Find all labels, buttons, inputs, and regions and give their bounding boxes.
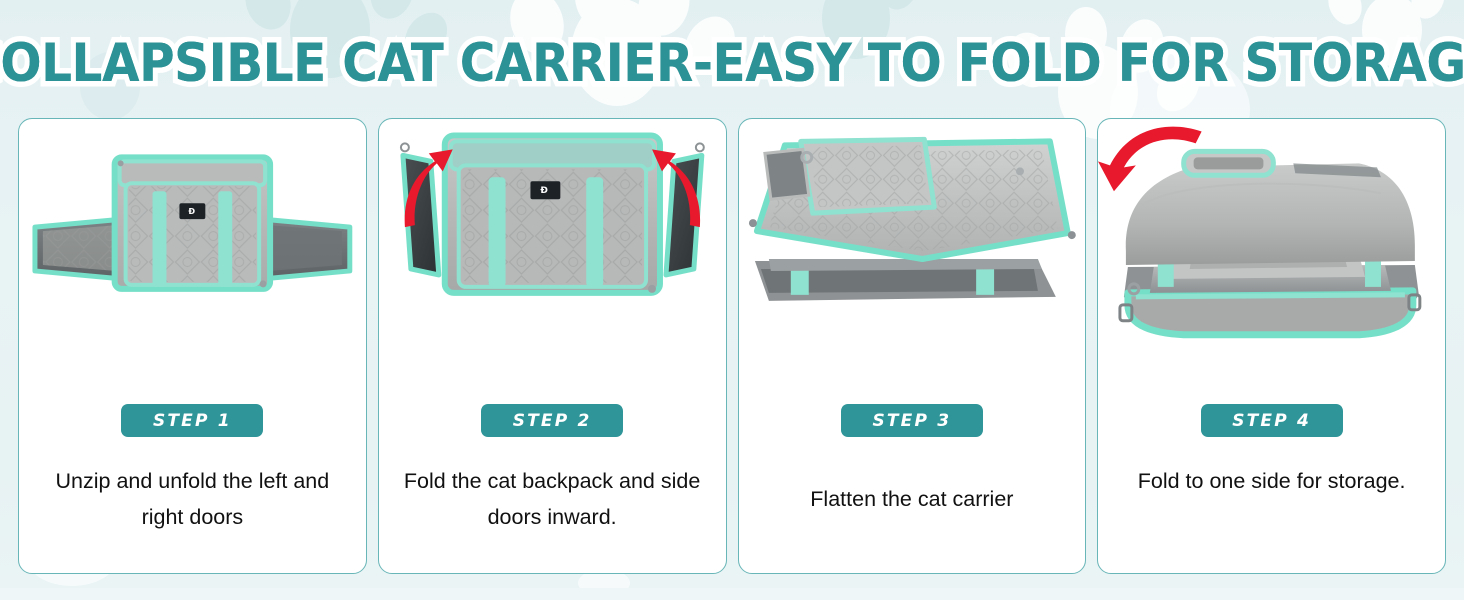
- step-badge-2: STEP 2: [481, 404, 623, 437]
- carrier-folded-for-storage-image: [1098, 119, 1445, 397]
- step-badge-1: STEP 1: [121, 404, 263, 437]
- carrier-flattened-image: [739, 119, 1086, 397]
- step-badge-label: STEP 4: [1232, 411, 1311, 431]
- svg-text:Ɖ: Ɖ: [540, 186, 548, 196]
- step-card-3[interactable]: STEP 3 Flatten the cat carrier: [738, 118, 1087, 574]
- step-card-2[interactable]: Ɖ STEP 2 Fold the cat backpack and side …: [378, 118, 727, 574]
- step-badge-label: STEP 1: [153, 411, 232, 431]
- bottom-strip: [0, 588, 1464, 600]
- step-badge-3: STEP 3: [841, 404, 983, 437]
- svg-text:Ɖ: Ɖ: [188, 207, 195, 216]
- carrier-side-doors-hanging-down-image: Ɖ: [379, 119, 726, 397]
- step-card-4[interactable]: STEP 4 Fold to one side for storage.: [1097, 118, 1446, 574]
- top-folded-flap: [1126, 151, 1415, 265]
- step-card-1[interactable]: Ɖ STEP 1 Unzip and unfold the left and r…: [18, 118, 367, 574]
- steps-row: Ɖ STEP 1 Unzip and unfold the left and r…: [18, 118, 1446, 574]
- step-caption-4: Fold to one side for storage.: [1123, 463, 1421, 499]
- flattened-base: [754, 259, 1055, 301]
- left-door: [35, 219, 123, 279]
- step-badge-4: STEP 4: [1201, 404, 1343, 437]
- title-container: COLLAPSIBLE CAT CARRIER-EASY TO FOLD FOR…: [0, 26, 1464, 100]
- flattened-slab: [748, 139, 1075, 259]
- step-caption-1: Unzip and unfold the left and right door…: [43, 463, 341, 535]
- step-caption-3: Flatten the cat carrier: [763, 481, 1061, 517]
- step-badge-label: STEP 2: [513, 411, 592, 431]
- carrier-body: Ɖ: [445, 135, 660, 292]
- step-badge-label: STEP 3: [872, 411, 951, 431]
- step-caption-2: Fold the cat backpack and side doors inw…: [403, 463, 701, 535]
- page-title-overlay: COLLAPSIBLE CAT CARRIER-EASY TO FOLD FOR…: [0, 37, 1464, 90]
- carrier-unfolded-side-doors-open-image: Ɖ: [19, 119, 366, 397]
- right-door: [262, 219, 350, 279]
- carrier-body: Ɖ: [115, 157, 270, 289]
